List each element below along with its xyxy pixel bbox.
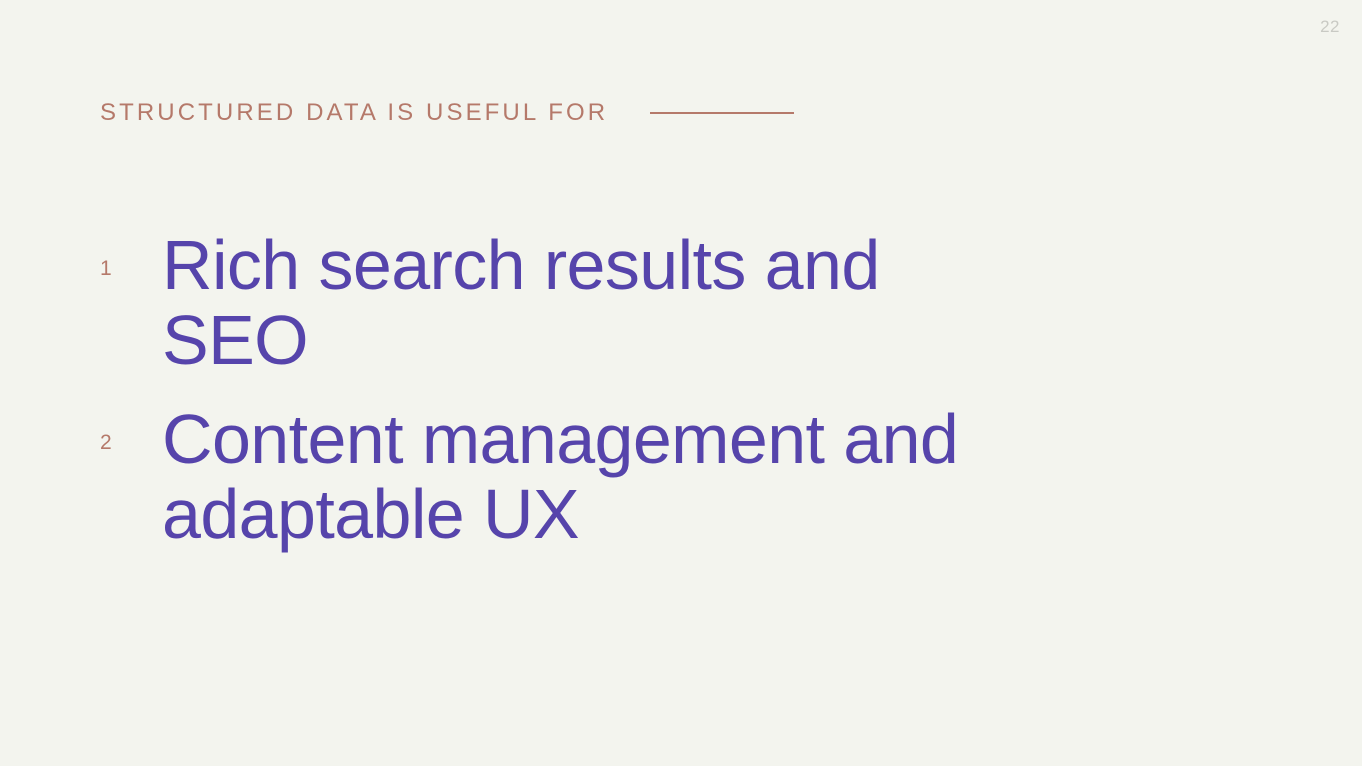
divider-rule-icon: [650, 112, 794, 114]
list-item: 1 Rich search results and SEO: [100, 228, 1200, 378]
presentation-slide: 22 STRUCTURED DATA IS USEFUL FOR 1 Rich …: [0, 0, 1362, 766]
numbered-list: 1 Rich search results and SEO 2 Content …: [100, 228, 1200, 552]
section-eyebrow: STRUCTURED DATA IS USEFUL FOR: [100, 96, 794, 130]
list-item-label: Rich search results and SEO: [162, 228, 1002, 378]
list-item-number: 2: [100, 402, 162, 453]
list-item-number: 1: [100, 228, 162, 279]
section-title: STRUCTURED DATA IS USEFUL FOR: [100, 96, 608, 130]
list-item-label: Content management and adaptable UX: [162, 402, 1002, 552]
list-item: 2 Content management and adaptable UX: [100, 402, 1200, 552]
page-number: 22: [1320, 18, 1340, 35]
